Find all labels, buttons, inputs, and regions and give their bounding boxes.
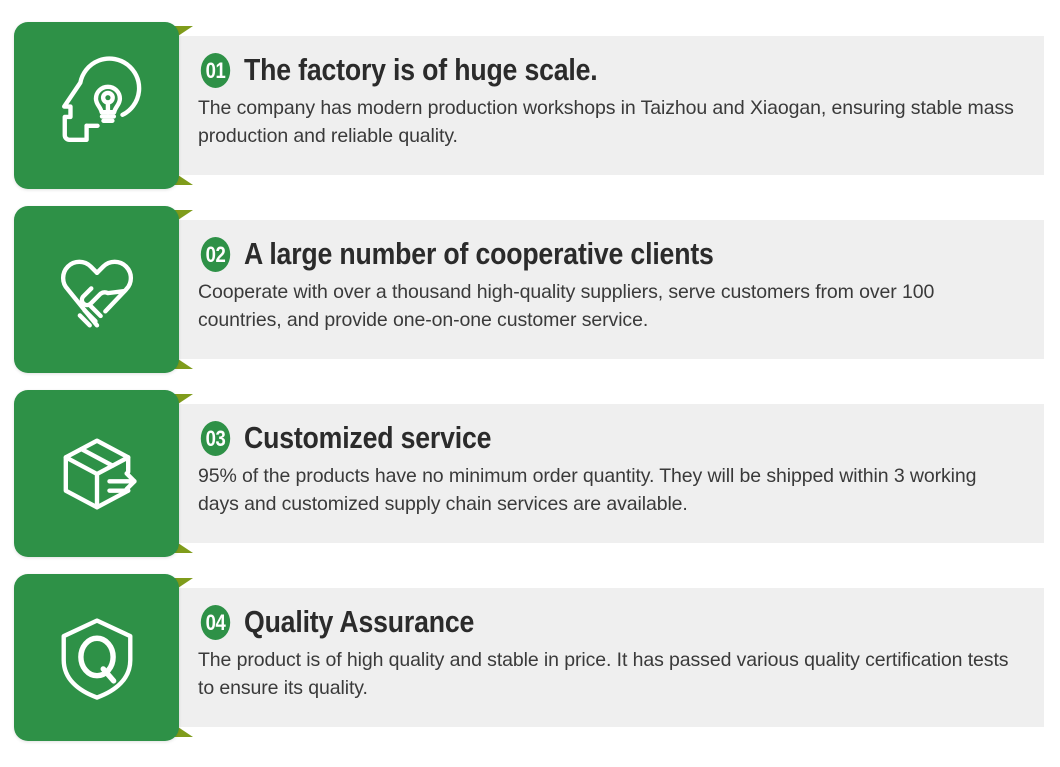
text-panel-04: 04 Quality Assurance The product is of h… (168, 588, 1044, 727)
text-panel-02: 02 A large number of cooperative clients… (168, 220, 1044, 359)
box-arrow-shipping-icon (45, 422, 149, 526)
heading-row-04: 04 Quality Assurance (198, 605, 1020, 640)
number-badge-01: 01 (201, 53, 230, 88)
feature-description-02: Cooperate with over a thousand high-qual… (198, 279, 1020, 334)
number-badge-03: 03 (201, 421, 230, 456)
text-panel-01: 01 The factory is of huge scale. The com… (168, 36, 1044, 175)
icon-tile-03 (14, 390, 179, 557)
feature-card-04: 04 Quality Assurance The product is of h… (0, 574, 1060, 741)
handshake-heart-icon (45, 238, 149, 342)
feature-description-01: The company has modern production worksh… (198, 95, 1020, 150)
feature-card-02: 02 A large number of cooperative clients… (0, 206, 1060, 373)
shield-q-icon (45, 606, 149, 710)
feature-title-04: Quality Assurance (244, 606, 474, 639)
head-lightbulb-icon (45, 54, 149, 158)
number-badge-04: 04 (201, 605, 230, 640)
feature-card-03: 03 Customized service 95% of the product… (0, 390, 1060, 557)
text-panel-03: 03 Customized service 95% of the product… (168, 404, 1044, 543)
feature-description-03: 95% of the products have no minimum orde… (198, 463, 1020, 518)
feature-card-01: 01 The factory is of huge scale. The com… (0, 22, 1060, 189)
feature-title-01: The factory is of huge scale. (244, 54, 598, 87)
feature-title-03: Customized service (244, 422, 491, 455)
icon-tile-04 (14, 574, 179, 741)
icon-tile-01 (14, 22, 179, 189)
heading-row-02: 02 A large number of cooperative clients (198, 237, 1020, 272)
features-list: 01 The factory is of huge scale. The com… (0, 0, 1060, 767)
icon-tile-02 (14, 206, 179, 373)
heading-row-01: 01 The factory is of huge scale. (198, 53, 1020, 88)
feature-title-02: A large number of cooperative clients (244, 238, 714, 271)
heading-row-03: 03 Customized service (198, 421, 1020, 456)
feature-description-04: The product is of high quality and stabl… (198, 647, 1020, 702)
number-badge-02: 02 (201, 237, 230, 272)
